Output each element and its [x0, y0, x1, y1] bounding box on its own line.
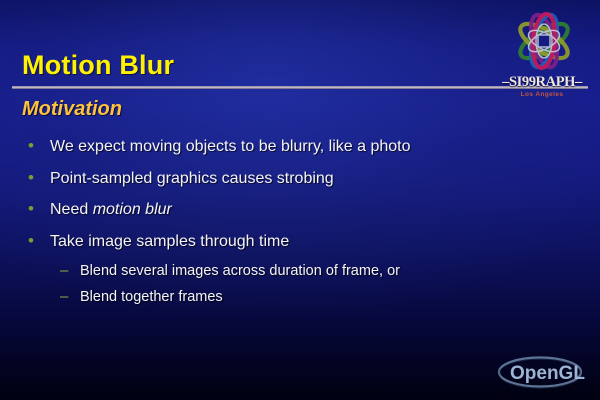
bullet-text: Need motion blur — [50, 201, 564, 219]
opengl-wordmark-text: OpenGL — [510, 363, 585, 384]
siggraph-logo: –SI99RAPH– Los Angeles — [490, 8, 594, 106]
presentation-slide: Motion Blur Motivation • We expect movin… — [0, 0, 600, 400]
siggraph-city-label: Los Angeles — [490, 91, 594, 98]
bullet-text: We expect moving objects to be blurry, l… — [50, 138, 564, 156]
bullet-text-emphasis: motion blur — [93, 201, 172, 218]
list-item: • Point-sampled graphics causes strobing — [24, 169, 564, 188]
list-item: • We expect moving objects to be blurry,… — [24, 137, 564, 156]
sub-bullet-text: Blend together frames — [80, 289, 564, 305]
sub-list-item: – Blend several images across duration o… — [60, 263, 564, 279]
slide-subtitle: Motivation — [22, 98, 122, 121]
bullet-text-prefix: Need — [50, 201, 93, 218]
list-item: • Need motion blur — [24, 200, 564, 219]
bullet-text: Point-sampled graphics causes strobing — [50, 170, 564, 188]
bullet-dot-icon: • — [24, 200, 50, 217]
bullet-list: • We expect moving objects to be blurry,… — [24, 137, 564, 315]
slide-title: Motion Blur — [22, 50, 174, 81]
bullet-dot-icon: • — [24, 169, 50, 186]
bullet-dot-icon: • — [24, 137, 50, 154]
opengl-trademark-text: . — [580, 367, 584, 382]
bullet-text: Take image samples through time — [50, 233, 564, 251]
siggraph-rings-icon — [498, 8, 590, 74]
siggraph-wordmark: –SI99RAPH– — [490, 74, 594, 91]
sub-list-item: – Blend together frames — [60, 289, 564, 305]
sub-bullet-text: Blend several images across duration of … — [80, 263, 564, 279]
bullet-dot-icon: • — [24, 232, 50, 249]
opengl-logo: OpenGL . — [496, 352, 592, 392]
bullet-dash-icon: – — [60, 263, 80, 278]
bullet-dash-icon: – — [60, 289, 80, 304]
opengl-logo-icon: OpenGL . — [496, 352, 592, 392]
list-item: • Take image samples through time — [24, 232, 564, 251]
